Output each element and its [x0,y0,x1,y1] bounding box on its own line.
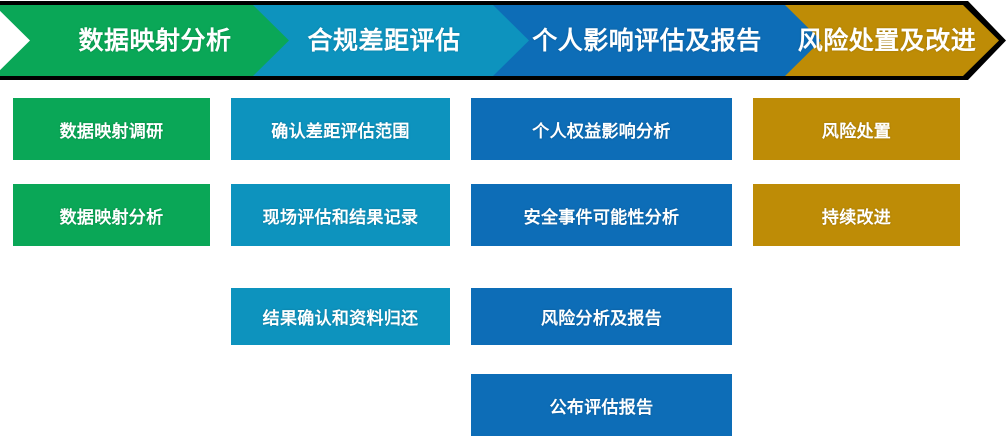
stage-chevron-4[interactable]: 风险处置及改进 [772,4,994,74]
task-box-c4-r2-label: 持续改进 [822,203,891,228]
task-box-c4-r1-label: 风险处置 [822,117,891,142]
stage-chevron-4-label: 风险处置及改进 [790,21,977,57]
stage-banner: 数据映射分析 合规差距评估 个人影响评估及报告 风险处置及改进 [0,0,1007,82]
stage-chevron-2[interactable]: 合规差距评估 [245,4,515,74]
task-box-c2-r2-label: 现场评估和结果记录 [263,203,419,228]
task-box-c4-r2[interactable]: 持续改进 [750,181,963,249]
task-box-c3-r3-label: 风险分析及报告 [541,304,662,329]
stage-chevron-3[interactable]: 个人影响评估及报告 [478,4,808,74]
task-box-c1-r1[interactable]: 数据映射调研 [10,95,213,163]
task-box-c2-r3-label: 结果确认和资料归还 [263,304,419,329]
stage-chevron-3-label: 个人影响评估及报告 [524,21,762,57]
task-box-c2-r1-label: 确认差距评估范围 [271,117,409,142]
task-box-c4-r1[interactable]: 风险处置 [750,95,963,163]
process-flow-diagram: 数据映射分析 合规差距评估 个人影响评估及报告 风险处置及改进 数据映射调研 数… [0,0,1007,444]
task-box-c3-r1-label: 个人权益影响分析 [532,117,670,142]
task-box-c3-r4[interactable]: 公布评估报告 [468,371,735,439]
task-box-c3-r2-label: 安全事件可能性分析 [524,203,680,228]
task-box-c1-r1-label: 数据映射调研 [60,117,164,142]
task-box-c2-r1[interactable]: 确认差距评估范围 [228,95,453,163]
task-box-c3-r4-label: 公布评估报告 [550,393,654,418]
task-box-c2-r3[interactable]: 结果确认和资料归还 [228,285,453,348]
task-box-c3-r2[interactable]: 安全事件可能性分析 [468,181,735,249]
task-box-c2-r2[interactable]: 现场评估和结果记录 [228,181,453,249]
task-box-c3-r1[interactable]: 个人权益影响分析 [468,95,735,163]
task-box-c1-r2-label: 数据映射分析 [60,203,164,228]
stage-chevron-1-label: 数据映射分析 [70,21,231,57]
task-box-c3-r3[interactable]: 风险分析及报告 [468,285,735,348]
task-box-c1-r2[interactable]: 数据映射分析 [10,181,213,249]
stage-chevron-2-label: 合规差距评估 [299,21,460,57]
